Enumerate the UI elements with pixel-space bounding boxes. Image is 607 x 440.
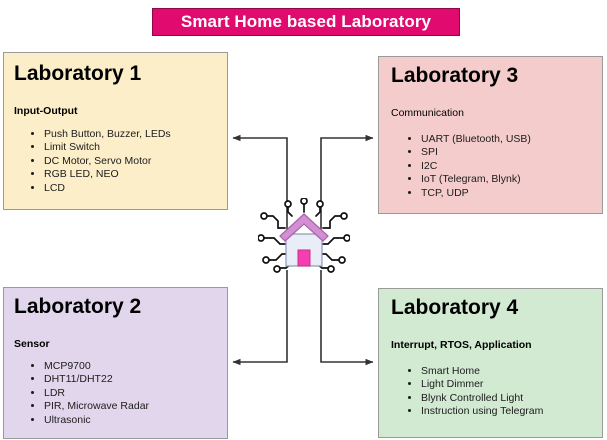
list-item: Push Button, Buzzer, LEDs [44, 128, 171, 141]
smart-home-iot-icon [258, 198, 350, 278]
laboratory-3-title: Laboratory 3 [391, 65, 518, 86]
arrow-to-lab4 [321, 270, 373, 362]
laboratory-4-list: Smart Home Light Dimmer Blynk Controlled… [391, 365, 543, 419]
list-item: Light Dimmer [421, 378, 543, 391]
laboratory-2-title: Laboratory 2 [14, 296, 141, 317]
arrow-to-lab2 [233, 270, 287, 362]
list-item: PIR, Microwave Radar [44, 400, 149, 413]
list-item: Blynk Controlled Light [421, 392, 543, 405]
list-item: UART (Bluetooth, USB) [421, 133, 531, 146]
list-item: Ultrasonic [44, 414, 149, 427]
list-item: Limit Switch [44, 141, 171, 154]
laboratory-1-title: Laboratory 1 [14, 63, 141, 84]
list-item: LDR [44, 387, 149, 400]
list-item: Instruction using Telegram [421, 405, 543, 418]
laboratory-1-box[interactable]: Laboratory 1 Input-Output Push Button, B… [3, 52, 228, 210]
laboratory-3-list: UART (Bluetooth, USB) SPI I2C IoT (Teleg… [391, 133, 531, 200]
laboratory-1-subtitle: Input-Output [14, 105, 78, 117]
list-item: LCD [44, 182, 171, 195]
laboratory-2-subtitle: Sensor [14, 338, 50, 350]
list-item: DC Motor, Servo Motor [44, 155, 171, 168]
list-item: Smart Home [421, 365, 543, 378]
laboratory-4-box[interactable]: Laboratory 4 Interrupt, RTOS, Applicatio… [378, 288, 603, 438]
laboratory-2-list: MCP9700 DHT11/DHT22 LDR PIR, Microwave R… [14, 360, 149, 427]
laboratory-3-box[interactable]: Laboratory 3 Communication UART (Bluetoo… [378, 56, 603, 214]
list-item: SPI [421, 146, 531, 159]
list-item: I2C [421, 160, 531, 173]
list-item: RGB LED, NEO [44, 168, 171, 181]
laboratory-4-subtitle: Interrupt, RTOS, Application [391, 339, 532, 351]
laboratory-4-title: Laboratory 4 [391, 297, 518, 318]
laboratory-2-box[interactable]: Laboratory 2 Sensor MCP9700 DHT11/DHT22 … [3, 287, 228, 439]
list-item: DHT11/DHT22 [44, 373, 149, 386]
laboratory-1-list: Push Button, Buzzer, LEDs Limit Switch D… [14, 128, 171, 195]
list-item: MCP9700 [44, 360, 149, 373]
list-item: IoT (Telegram, Blynk) [421, 173, 531, 186]
list-item: TCP, UDP [421, 187, 531, 200]
laboratory-3-subtitle: Communication [391, 107, 464, 119]
